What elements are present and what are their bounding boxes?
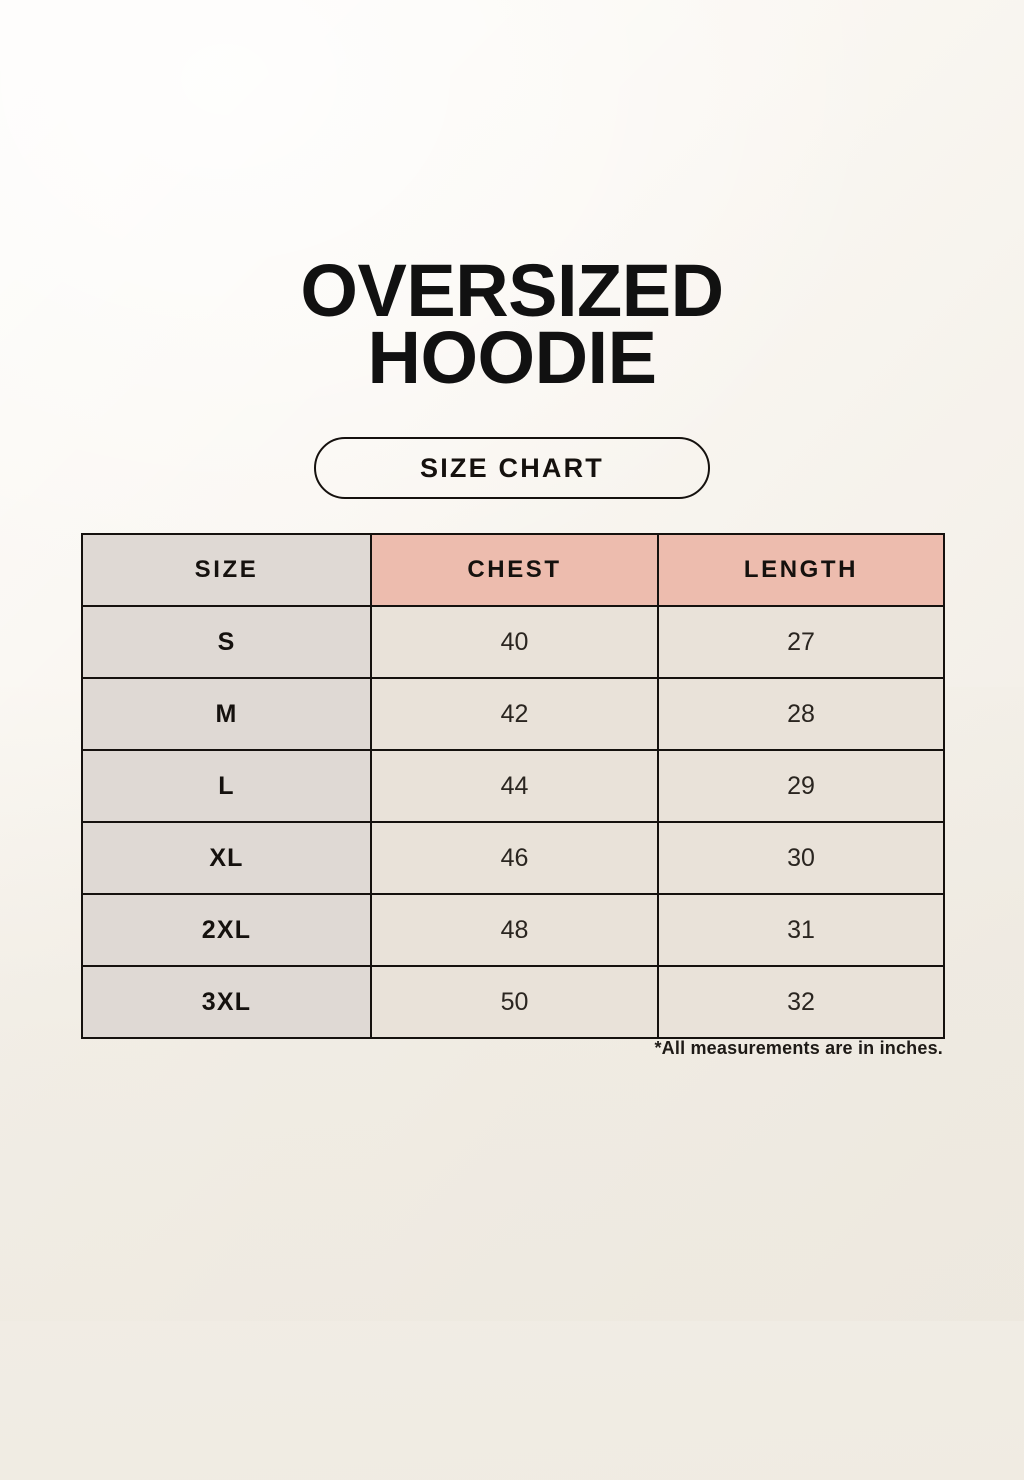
cell-chest: 40 xyxy=(371,606,658,678)
table-row: XL 46 30 xyxy=(82,822,944,894)
size-chart-page: OVERSIZED HOODIE SIZE CHART SIZE CHEST L… xyxy=(0,0,1024,1321)
table-header: SIZE CHEST LENGTH xyxy=(82,534,944,606)
table-body: S 40 27 M 42 28 L 44 29 XL 46 30 xyxy=(82,606,944,1038)
header-block: OVERSIZED HOODIE SIZE CHART xyxy=(0,258,1024,499)
cell-length: 29 xyxy=(658,750,944,822)
column-header-chest: CHEST xyxy=(371,534,658,606)
cell-size: S xyxy=(82,606,371,678)
cell-size: XL xyxy=(82,822,371,894)
cell-length: 28 xyxy=(658,678,944,750)
cell-chest: 44 xyxy=(371,750,658,822)
cell-size: L xyxy=(82,750,371,822)
badge-row: SIZE CHART xyxy=(0,437,1024,499)
cell-size: M xyxy=(82,678,371,750)
table-row: 3XL 50 32 xyxy=(82,966,944,1038)
cell-length: 27 xyxy=(658,606,944,678)
size-table-container: SIZE CHEST LENGTH S 40 27 M 42 28 L xyxy=(81,533,943,1039)
table-row: L 44 29 xyxy=(82,750,944,822)
cell-length: 31 xyxy=(658,894,944,966)
table-row: 2XL 48 31 xyxy=(82,894,944,966)
table-row: M 42 28 xyxy=(82,678,944,750)
cell-chest: 50 xyxy=(371,966,658,1038)
measurements-footnote: *All measurements are in inches. xyxy=(81,1038,943,1059)
cell-size: 3XL xyxy=(82,966,371,1038)
cell-length: 30 xyxy=(658,822,944,894)
table-header-row: SIZE CHEST LENGTH xyxy=(82,534,944,606)
cell-chest: 46 xyxy=(371,822,658,894)
cell-length: 32 xyxy=(658,966,944,1038)
page-title: OVERSIZED HOODIE xyxy=(0,258,1024,391)
table-row: S 40 27 xyxy=(82,606,944,678)
cell-chest: 48 xyxy=(371,894,658,966)
cell-chest: 42 xyxy=(371,678,658,750)
size-table: SIZE CHEST LENGTH S 40 27 M 42 28 L xyxy=(81,533,945,1039)
cell-size: 2XL xyxy=(82,894,371,966)
size-chart-badge: SIZE CHART xyxy=(314,437,710,499)
column-header-length: LENGTH xyxy=(658,534,944,606)
column-header-size: SIZE xyxy=(82,534,371,606)
